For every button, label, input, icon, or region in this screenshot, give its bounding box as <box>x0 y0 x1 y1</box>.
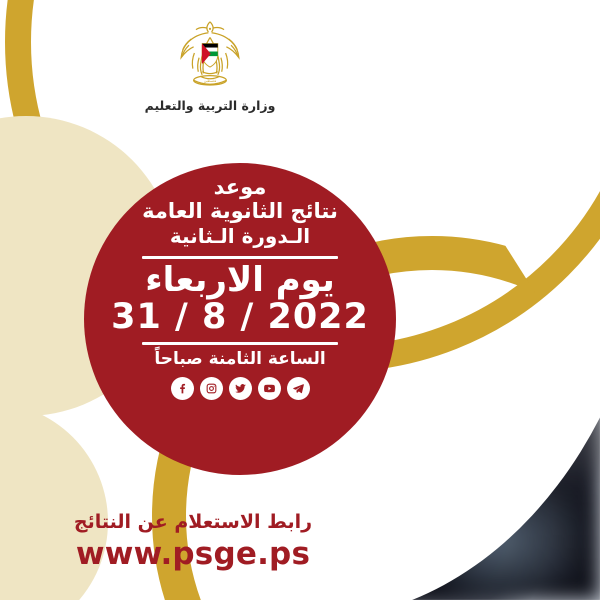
ministry-name: وزارة التربية والتعليم <box>145 98 276 113</box>
svg-text:فلسطين: فلسطين <box>204 79 217 83</box>
facebook-icon[interactable] <box>171 377 194 400</box>
announcement-time: الساعة الثامنة صباحاً <box>154 350 325 369</box>
announcement-line-2: نتائج الثانوية العامة <box>142 199 338 225</box>
social-links <box>171 377 310 400</box>
poster-canvas: فلسطين وزارة التربية والتعليم موعد نتائج… <box>0 0 600 600</box>
results-link-label: رابط الاستعلام عن النتائج <box>74 511 312 533</box>
telegram-icon[interactable] <box>287 377 310 400</box>
announcement-day: يوم الاربعاء <box>145 263 335 297</box>
palestinian-eagle-emblem: فلسطين <box>171 14 249 92</box>
divider-top <box>142 256 338 259</box>
announcement-circle: موعد نتائج الثانوية العامة الـدورة الـثا… <box>84 163 396 475</box>
footer: رابط الاستعلام عن النتائج www.psge.ps <box>0 511 386 572</box>
instagram-icon[interactable] <box>200 377 223 400</box>
header: فلسطين وزارة التربية والتعليم <box>0 14 420 113</box>
announcement-content: موعد نتائج الثانوية العامة الـدورة الـثا… <box>84 163 396 475</box>
results-url[interactable]: www.psge.ps <box>76 536 310 572</box>
twitter-icon[interactable] <box>229 377 252 400</box>
divider-bottom <box>142 342 338 345</box>
announcement-line-1: موعد <box>214 176 267 199</box>
youtube-icon[interactable] <box>258 377 281 400</box>
announcement-line-3: الـدورة الـثانية <box>170 224 310 248</box>
announcement-date: 31 / 8 / 2022 <box>111 299 369 336</box>
